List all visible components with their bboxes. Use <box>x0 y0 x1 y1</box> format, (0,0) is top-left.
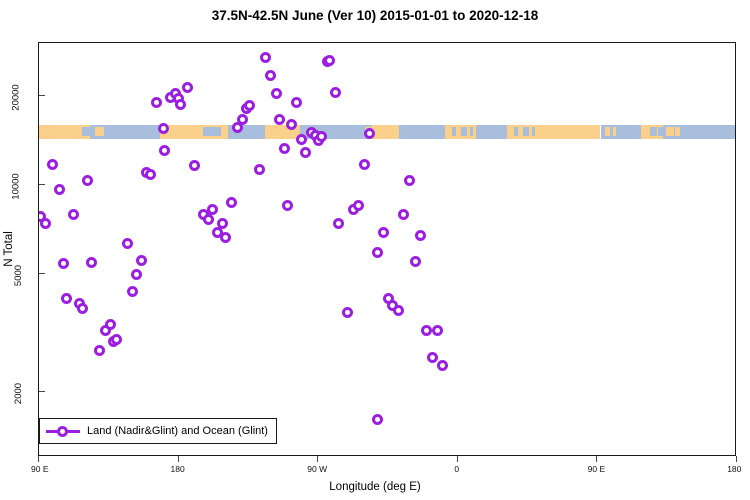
data-point <box>324 55 335 66</box>
data-point <box>342 307 353 318</box>
data-point <box>226 197 237 208</box>
band-fleck <box>87 127 90 136</box>
data-point <box>260 52 271 63</box>
y-axis-tick-labels: 200050001000020000 <box>0 42 38 456</box>
y-tick <box>39 184 45 185</box>
legend-marker-icon <box>46 425 80 437</box>
band-segment-land <box>507 125 600 139</box>
data-point <box>333 218 344 229</box>
data-point <box>300 147 311 158</box>
x-tick-label: 90 E <box>31 464 49 474</box>
data-point <box>404 175 415 186</box>
data-point <box>158 123 169 134</box>
data-point <box>437 360 448 371</box>
data-point <box>427 352 438 363</box>
band-fleck <box>523 127 529 136</box>
data-point <box>68 209 79 220</box>
data-point <box>61 293 72 304</box>
data-point <box>393 305 404 316</box>
band-fleck <box>613 127 616 136</box>
data-point <box>378 227 389 238</box>
data-point <box>47 159 58 170</box>
data-point <box>330 87 341 98</box>
data-point <box>40 218 51 229</box>
data-point <box>105 319 116 330</box>
data-point <box>271 88 282 99</box>
data-point <box>372 247 383 258</box>
legend-circle-icon <box>57 426 68 437</box>
data-point <box>372 414 383 425</box>
x-tick <box>457 456 458 462</box>
band-fleck <box>675 127 680 136</box>
y-tick-label: 2000 <box>0 383 29 401</box>
x-tick-label: 180 <box>171 464 185 474</box>
x-tick <box>317 456 318 462</box>
data-point <box>217 218 228 229</box>
band-segment-ocean <box>399 125 446 139</box>
data-point <box>291 97 302 108</box>
y-tick-label-text: 20000 <box>10 84 21 110</box>
data-point <box>254 164 265 175</box>
data-point <box>151 97 162 108</box>
data-point <box>122 238 133 249</box>
y-tick <box>39 95 45 96</box>
data-point <box>127 286 138 297</box>
data-point <box>86 257 97 268</box>
data-point <box>111 334 122 345</box>
data-point <box>203 214 214 225</box>
figure-canvas: 37.5N-42.5N June (Ver 10) 2015-01-01 to … <box>0 0 750 500</box>
x-tick-label: 180 <box>727 464 741 474</box>
band-fleck <box>461 127 467 136</box>
data-point <box>136 255 147 266</box>
x-tick <box>736 456 737 462</box>
data-point <box>145 169 156 180</box>
data-point <box>410 256 421 267</box>
data-point <box>159 145 170 156</box>
data-point <box>54 184 65 195</box>
band-fleck <box>605 127 610 136</box>
data-point <box>359 159 370 170</box>
y-tick-label: 20000 <box>0 87 29 105</box>
y-tick <box>39 391 45 392</box>
plot-area[interactable] <box>38 42 736 456</box>
band-fleck <box>470 127 473 136</box>
data-point <box>364 128 375 139</box>
band-fleck <box>650 127 656 136</box>
band-fleck <box>383 127 389 136</box>
x-tick <box>38 456 39 462</box>
x-tick-label: 90 W <box>307 464 327 474</box>
y-tick-label: 5000 <box>0 265 29 283</box>
band-fleck <box>452 127 457 136</box>
data-point <box>82 175 93 186</box>
data-point <box>265 70 276 81</box>
data-point <box>353 200 364 211</box>
chart-title: 37.5N-42.5N June (Ver 10) 2015-01-01 to … <box>0 8 750 23</box>
data-point <box>415 230 426 241</box>
band-fleck <box>532 127 535 136</box>
x-axis-title: Longitude (deg E) <box>0 481 750 493</box>
band-fleck <box>272 127 275 136</box>
data-point <box>274 114 285 125</box>
data-point <box>58 258 69 269</box>
x-tick <box>596 456 597 462</box>
data-point <box>131 269 142 280</box>
legend[interactable]: Land (Nadir&Glint) and Ocean (Glint) <box>39 418 277 444</box>
band-segment-ocean <box>476 125 507 139</box>
data-point <box>244 100 255 111</box>
band-fleck <box>658 127 663 136</box>
y-tick-label-text: 2000 <box>13 383 24 404</box>
data-point <box>189 160 200 171</box>
data-point <box>175 99 186 110</box>
data-point <box>182 82 193 93</box>
band-fleck <box>101 127 104 136</box>
x-tick-label: 90 E <box>588 464 606 474</box>
band-fleck <box>216 127 221 136</box>
band-fleck <box>514 127 519 136</box>
data-point <box>220 232 231 243</box>
data-point <box>94 345 105 356</box>
data-point <box>237 114 248 125</box>
data-point <box>279 143 290 154</box>
data-point <box>282 200 293 211</box>
y-tick-label-text: 10000 <box>10 174 21 200</box>
data-point <box>421 325 432 336</box>
y-tick-label: 10000 <box>0 176 29 194</box>
data-point <box>398 209 409 220</box>
data-point <box>77 303 88 314</box>
data-point <box>316 131 327 142</box>
data-point <box>207 204 218 215</box>
x-tick-label: 0 <box>454 464 459 474</box>
data-point <box>296 134 307 145</box>
x-tick <box>178 456 179 462</box>
y-tick-label-text: 5000 <box>13 265 24 286</box>
legend-label: Land (Nadir&Glint) and Ocean (Glint) <box>87 425 268 437</box>
data-point <box>432 325 443 336</box>
band-fleck <box>666 127 674 136</box>
y-tick <box>39 273 45 274</box>
